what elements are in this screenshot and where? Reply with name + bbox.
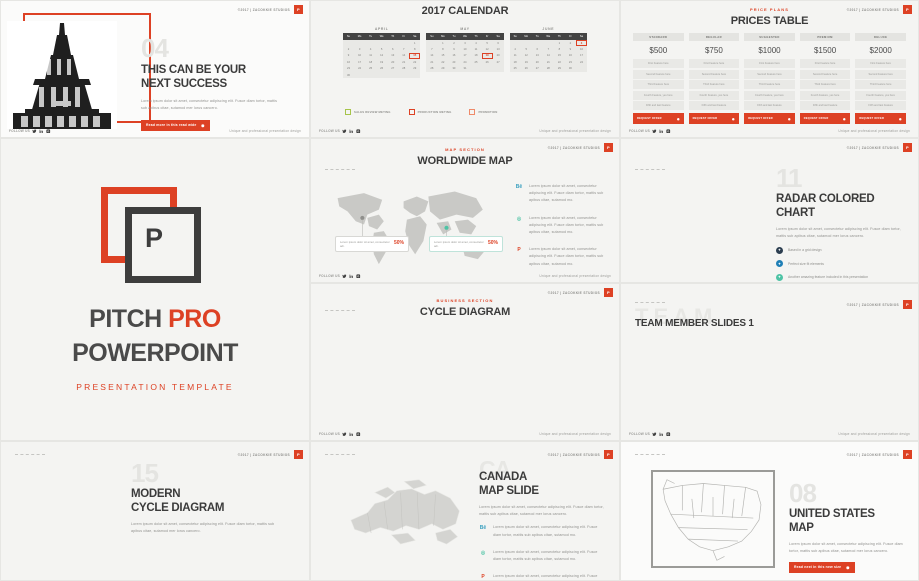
gear-icon <box>898 117 902 121</box>
day-cell[interactable]: 24 <box>576 59 587 65</box>
weekday-cell: Sa <box>493 33 504 40</box>
request-offer-label: REQUEST OFFER <box>693 117 718 120</box>
slide-footer: FOLLOW US Unique and professional presen… <box>9 129 301 134</box>
icon-bullet: ◎Lorem ipsum dolor sit amet, consectetur… <box>515 215 605 237</box>
day-cell[interactable]: 26 <box>482 59 493 65</box>
slide-credit: ©2017 | ZACOKKIE STUDIOS P <box>238 450 303 459</box>
usa-title-line1: UNITED STATES <box>789 507 911 521</box>
slide-credit: ©2017 | ZACOKKIE STUDIOS P <box>548 288 613 297</box>
canada-map-graphic <box>347 476 467 573</box>
plan-price: $1500 <box>800 41 851 59</box>
usa-description: Lorem ipsum dolor sit amet, consectetur … <box>789 541 911 555</box>
weekday-cell: Tu <box>448 33 459 40</box>
request-offer-label: REQUEST OFFER <box>637 117 662 120</box>
slide-number: 11 <box>776 169 906 189</box>
worldmap-bullet-list: BēLorem ipsum dolor sit amet, consectetu… <box>515 183 605 278</box>
decorative-rule <box>325 169 355 170</box>
legend-label: PROMOTION <box>478 110 497 114</box>
modern-title-line1: MODERN <box>131 487 281 501</box>
day-cell[interactable]: 28 <box>543 66 554 72</box>
brand-badge: P <box>903 450 912 459</box>
plan-feature: Third Feature here <box>800 80 851 89</box>
icon-bullet: BēLorem ipsum dolor sit amet, consectetu… <box>479 524 604 538</box>
slide-calendar[interactable]: 2017 CALENDAR APRILSuMoTuWeThFrSa1234567… <box>310 0 620 138</box>
weekday-cell: Th <box>554 33 565 40</box>
credit-text: ©2017 | ZACOKKIE STUDIOS <box>238 453 290 457</box>
logo-tagline: PRESENTATION TEMPLATE <box>76 382 234 392</box>
plan-name: STANDARD <box>633 33 684 41</box>
footer-tagline: Unique and professional presentation des… <box>229 129 301 133</box>
modern-cycle-graphic <box>15 468 121 579</box>
plan-feature: Fifth and last Feature <box>855 101 906 110</box>
weekday-cell: Th <box>387 33 398 40</box>
slide-modern-cycle[interactable]: ©2017 | ZACOKKIE STUDIOS P 15 MODERN CYC… <box>0 441 310 581</box>
usa-text-block: 08 UNITED STATES MAP Lorem ipsum dolor s… <box>789 484 911 573</box>
plan-feature: Fourth Feature, yes here <box>800 91 851 100</box>
plan-feature: Second Feature here <box>689 70 740 79</box>
slide-footer: FOLLOW US Unique and professional presen… <box>319 432 611 437</box>
linkedin-icon[interactable] <box>659 432 664 437</box>
success-text-block: 04 THIS CAN BE YOUR NEXT SUCCESS Lorem i… <box>141 39 281 131</box>
day-cell[interactable]: 29 <box>437 66 448 72</box>
feature-dot-icon: ✦ <box>776 247 783 254</box>
plan-name: PREMIUM <box>800 33 851 41</box>
weekday-cell: Su <box>343 33 354 40</box>
price-column[interactable]: PREMIUM$1500First Feature hereSecond Fea… <box>800 33 851 124</box>
legend-swatch <box>409 109 415 115</box>
bullet-text: Lorem ipsum dolor sit amet, consectetur … <box>529 183 605 205</box>
prices-title: PRICES TABLE <box>621 15 918 27</box>
template-showcase-grid: ©2017 | ZACOKKIE STUDIOS P <box>0 0 919 581</box>
gear-icon <box>200 123 205 128</box>
team-title: TEAM MEMBER SLIDES 1 <box>635 318 754 329</box>
slide-radar-chart[interactable]: ©2017 | ZACOKKIE STUDIOS P 11 RADAR COLO… <box>620 138 919 283</box>
follow-label: FOLLOW US <box>319 274 340 278</box>
day-cell[interactable]: 25 <box>365 66 376 72</box>
bullet-text: Lorem ipsum dolor sit amet, consectetur … <box>529 246 605 268</box>
plan-price: $750 <box>689 41 740 59</box>
feature-label: Another amazing feature included in this… <box>788 275 868 279</box>
weekday-cell: Sa <box>576 33 587 40</box>
calendar-legend-item: PROMOTION <box>469 109 497 115</box>
modern-title-line2: CYCLE DIAGRAM <box>131 501 281 515</box>
twitter-icon[interactable] <box>652 129 657 134</box>
logo-wordmark: PITCH PRO POWERPOINT <box>72 303 238 371</box>
request-offer-label: REQUEST OFFER <box>859 117 884 120</box>
callout-value: 50% <box>488 240 498 248</box>
plan-name: REGULAR <box>689 33 740 41</box>
plan-name: DELUXE <box>855 33 906 41</box>
wordmark-pitch: PITCH <box>89 305 162 333</box>
weekday-cell: Su <box>510 33 521 40</box>
canada-title-line2: MAP SLIDE <box>479 484 604 498</box>
map-callout-left[interactable]: Lorem ipsum dolor sit amet, consectetur … <box>335 236 409 252</box>
weekday-cell: Sa <box>409 33 420 40</box>
feature-label: Based in a grid design <box>788 248 822 252</box>
radar-title-line1: RADAR COLORED <box>776 192 906 206</box>
gear-icon <box>676 117 680 121</box>
modern-description: Lorem ipsum dolor sit amet, consectetur … <box>131 521 281 535</box>
linkedin-icon[interactable] <box>349 432 354 437</box>
calendar-month: JUNESuMoTuWeThFrSa1234567891011121314151… <box>510 27 587 78</box>
plan-feature: Fifth and last Feature <box>744 101 795 110</box>
weekday-cell: Tu <box>532 33 543 40</box>
bullet-text: Lorem ipsum dolor sit amet, consectetur … <box>493 549 604 563</box>
day-grid: 1234567891011121314151617181920212223242… <box>343 40 420 78</box>
usa-title-line2: MAP <box>789 521 911 535</box>
month-name: JUNE <box>510 27 587 31</box>
brand-badge: P <box>294 5 303 14</box>
twitter-icon[interactable] <box>342 274 347 279</box>
feature-dot-icon: ✦ <box>776 260 783 267</box>
footer-tagline: Unique and professional presentation des… <box>539 274 611 278</box>
day-grid: 1234567891011121314151617181920212223242… <box>510 40 587 72</box>
behance-icon: Bē <box>479 524 487 532</box>
plan-feature: Second Feature here <box>800 70 851 79</box>
month-name: APRIL <box>343 27 420 31</box>
read-more-label: Read more in this read wide <box>146 123 196 127</box>
twitter-icon[interactable] <box>32 129 37 134</box>
radar-description: Lorem ipsum dolor sit amet, consectetur … <box>776 226 906 240</box>
bullet-text: Lorem ipsum dolor sit amet, consectetur … <box>529 215 605 237</box>
day-cell[interactable]: 31 <box>459 66 470 72</box>
icon-bullet: PLorem ipsum dolor sit amet, consectetur… <box>515 246 605 268</box>
calendar-legend-item: PRODUCTION METING <box>409 109 452 115</box>
slide-credit: ©2017 | ZACOKKIE STUDIOS P <box>847 300 912 309</box>
plan-feature: Fifth and last Feature <box>689 101 740 110</box>
slide-footer: FOLLOW US Unique and professional presen… <box>319 129 611 134</box>
globe-icon: ◎ <box>479 549 487 557</box>
decorative-rule <box>325 454 355 455</box>
slide-number: 15 <box>131 464 281 484</box>
weekday-cell: Fr <box>398 33 409 40</box>
wordmark-powerpoint: POWERPOINT <box>72 337 238 371</box>
canada-map-svg <box>347 476 467 568</box>
canada-bullet-list: BēLorem ipsum dolor sit amet, consectetu… <box>479 524 604 581</box>
plan-feature: Fourth Feature, yes here <box>633 91 684 100</box>
map-callout-right[interactable]: Lorem ipsum dolor sit amet, consectetur … <box>429 236 503 252</box>
instagram-icon[interactable] <box>356 432 361 437</box>
linkedin-icon[interactable] <box>349 129 354 134</box>
day-cell[interactable]: 29 <box>554 66 565 72</box>
slide-credit: ©2017 | ZACOKKIE STUDIOS P <box>238 5 303 14</box>
slide-credit: ©2017 | ZACOKKIE STUDIOS P <box>847 143 912 152</box>
weekday-cell: Tu <box>365 33 376 40</box>
weekday-cell: We <box>543 33 554 40</box>
pitch-pro-logo-mark: P <box>101 187 209 287</box>
credit-text: ©2017 | ZACOKKIE STUDIOS <box>238 8 290 12</box>
request-offer-button[interactable]: REQUEST OFFER <box>633 113 684 124</box>
instagram-icon[interactable] <box>666 129 671 134</box>
weekday-header: SuMoTuWeThFrSa <box>343 33 420 40</box>
gear-icon <box>787 117 791 121</box>
day-cell[interactable]: 30 <box>448 66 459 72</box>
decorative-rule <box>635 454 665 455</box>
weekday-cell: We <box>459 33 470 40</box>
usa-map-svg <box>653 472 773 566</box>
plan-feature: Third Feature here <box>689 80 740 89</box>
plan-price: $500 <box>633 41 684 59</box>
slide-canada-map[interactable]: ©2017 | ZACOKKIE STUDIOS P CA <box>310 441 620 581</box>
price-column[interactable]: STANDARD$500First Feature hereSecond Fea… <box>633 33 684 124</box>
brand-badge: P <box>903 300 912 309</box>
instagram-icon[interactable] <box>46 129 51 134</box>
weekday-cell: Mo <box>437 33 448 40</box>
calendar-legend-item: SALES REVIEW METING <box>345 109 391 115</box>
usa-read-button[interactable]: Read next in this new size <box>789 562 855 573</box>
footer-tagline: Unique and professional presentation des… <box>539 432 611 436</box>
instagram-icon[interactable] <box>356 274 361 279</box>
request-offer-button[interactable]: REQUEST OFFER <box>855 113 906 124</box>
instagram-icon[interactable] <box>356 129 361 134</box>
day-cell[interactable]: 24 <box>354 66 365 72</box>
plan-name: SUGGESTED <box>744 33 795 41</box>
price-column[interactable]: DELUXE$2000First Feature hereSecond Feat… <box>855 33 906 124</box>
calendar-legend: SALES REVIEW METINGPRODUCTION METINGPROM… <box>345 109 498 115</box>
usa-map-frame <box>651 470 775 568</box>
day-cell[interactable]: 29 <box>409 66 420 72</box>
usa-read-label: Read next in this new size <box>794 565 841 569</box>
day-cell[interactable]: 25 <box>510 66 521 72</box>
radar-text-block: 11 RADAR COLORED CHART Lorem ipsum dolor… <box>776 169 906 283</box>
brand-badge: P <box>294 450 303 459</box>
plan-feature: Fourth Feature, yes here <box>855 91 906 100</box>
icon-bullet: ◎Lorem ipsum dolor sit amet, consectetur… <box>479 549 604 563</box>
plan-feature: First Feature here <box>855 59 906 68</box>
day-cell[interactable]: 30 <box>565 66 576 72</box>
bullet-text: Lorem ipsum dolor sit amet, consectetur … <box>493 524 604 538</box>
price-column[interactable]: SUGGESTED$1000First Feature hereSecond F… <box>744 33 795 124</box>
gear-icon <box>731 117 735 121</box>
world-map-graphic <box>331 181 496 278</box>
day-cell[interactable]: 25 <box>471 59 482 65</box>
plan-price: $2000 <box>855 41 906 59</box>
day-cell[interactable]: 28 <box>426 66 437 72</box>
weekday-header: SuMoTuWeThFrSa <box>426 33 503 40</box>
callout-value: 50% <box>394 240 404 248</box>
feature-item: ✦Based in a grid design <box>776 247 906 254</box>
wordmark-pro: PRO <box>168 305 221 333</box>
map-kicker: MAP SECTION <box>311 147 619 152</box>
calendar-title: 2017 CALENDAR <box>311 5 619 17</box>
slide-credit: ©2017 | ZACOKKIE STUDIOS P <box>847 450 912 459</box>
credit-text: ©2017 | ZACOKKIE STUDIOS <box>548 291 600 295</box>
prices-kicker: PRICE PLANS <box>621 7 918 12</box>
plan-feature: Second Feature here <box>855 70 906 79</box>
twitter-icon[interactable] <box>652 432 657 437</box>
follow-label: FOLLOW US <box>629 129 650 133</box>
radar-feature-list: ✦Based in a grid design✦Perfect size fit… <box>776 247 906 283</box>
request-offer-label: REQUEST OFFER <box>804 117 829 120</box>
canada-description: Lorem ipsum dolor sit amet, consectetur … <box>479 504 604 518</box>
gear-icon <box>842 117 846 121</box>
modern-text-block: 15 MODERN CYCLE DIAGRAM Lorem ipsum dolo… <box>131 464 281 542</box>
weekday-cell: Fr <box>482 33 493 40</box>
success-description: Lorem ipsum dolor sit amet, consectetur … <box>141 98 281 112</box>
plan-price: $1000 <box>744 41 795 59</box>
feature-item: ✦Perfect size fit elements <box>776 260 906 267</box>
linkedin-icon[interactable] <box>349 274 354 279</box>
linkedin-icon[interactable] <box>659 129 664 134</box>
request-offer-label: REQUEST OFFER <box>748 117 773 120</box>
cycle-title: CYCLE DIAGRAM <box>311 306 619 318</box>
plan-feature: First Feature here <box>744 59 795 68</box>
brand-badge: P <box>604 450 613 459</box>
calendar-month: APRILSuMoTuWeThFrSa123456789101112131415… <box>343 27 420 78</box>
footer-tagline: Unique and professional presentation des… <box>539 129 611 133</box>
day-cell[interactable]: 27 <box>532 66 543 72</box>
pinterest-icon: P <box>515 246 523 254</box>
callout-text: Lorem ipsum dolor sit amet, consectetur … <box>340 240 390 248</box>
eiffel-tower-illustration <box>7 21 117 129</box>
plan-feature: Third Feature here <box>855 80 906 89</box>
legend-label: PRODUCTION METING <box>418 110 452 114</box>
follow-label: FOLLOW US <box>9 129 30 133</box>
slide-number: 04 <box>141 39 281 59</box>
weekday-cell: Th <box>471 33 482 40</box>
plan-feature: First Feature here <box>633 59 684 68</box>
logo-letter-p: P <box>145 225 163 252</box>
plan-feature: First Feature here <box>689 59 740 68</box>
plan-feature: First Feature here <box>800 59 851 68</box>
brand-badge: P <box>604 288 613 297</box>
icon-bullet: BēLorem ipsum dolor sit amet, consectetu… <box>515 183 605 205</box>
radar-title-line2: CHART <box>776 206 906 220</box>
slide-next-success[interactable]: ©2017 | ZACOKKIE STUDIOS P <box>0 0 310 138</box>
globe-icon: ◎ <box>515 215 523 223</box>
weekday-cell: Mo <box>354 33 365 40</box>
day-cell[interactable]: 26 <box>521 66 532 72</box>
price-column[interactable]: REGULAR$750First Feature hereSecond Feat… <box>689 33 740 124</box>
slide-united-states-map[interactable]: ©2017 | ZACOKKIE STUDIOS P 08 UNITED STA… <box>620 441 919 581</box>
slide-logo[interactable]: P PITCH PRO POWERPOINT PRESENTATION TEMP… <box>0 138 310 441</box>
day-grid: 1234567891011121314151617181920212223242… <box>426 40 503 72</box>
weekday-cell: Fr <box>565 33 576 40</box>
linkedin-icon[interactable] <box>39 129 44 134</box>
feature-item: ✦Another amazing feature included in thi… <box>776 274 906 281</box>
footer-tagline: Unique and professional presentation des… <box>838 432 910 436</box>
world-map-svg <box>331 181 496 273</box>
calendar-month: MAYSuMoTuWeThFrSa12345678910111213141516… <box>426 27 503 78</box>
slide-prices-table[interactable]: ©2017 | ZACOKKIE STUDIOS P PRICE PLANS P… <box>620 0 919 138</box>
plan-feature: Fifth and last Feature <box>800 101 851 110</box>
month-name: MAY <box>426 27 503 31</box>
follow-label: FOLLOW US <box>629 432 650 436</box>
legend-swatch <box>345 109 351 115</box>
follow-label: FOLLOW US <box>319 432 340 436</box>
credit-text: ©2017 | ZACOKKIE STUDIOS <box>847 146 899 150</box>
weekday-cell: We <box>376 33 387 40</box>
footer-tagline: Unique and professional presentation des… <box>838 129 910 133</box>
success-title-line2: NEXT SUCCESS <box>141 77 281 91</box>
plan-feature: Second Feature here <box>744 70 795 79</box>
day-cell[interactable]: 27 <box>387 66 398 72</box>
gear-icon <box>845 565 850 570</box>
callout-text: Lorem ipsum dolor sit amet, consectetur … <box>434 240 484 248</box>
decorative-rule <box>635 302 665 303</box>
weekday-cell: Su <box>426 33 437 40</box>
slide-footer: FOLLOW US Unique and professional presen… <box>319 274 611 279</box>
instagram-icon[interactable] <box>666 432 671 437</box>
day-cell[interactable]: 30 <box>343 72 354 78</box>
cycle-kicker: BUSINESS SECTION <box>311 298 619 303</box>
follow-label: FOLLOW US <box>319 129 340 133</box>
bullet-text: Lorem ipsum dolor sit amet, consectetur … <box>493 573 604 581</box>
credit-text: ©2017 | ZACOKKIE STUDIOS <box>847 303 899 307</box>
modern-cycle-svg <box>15 468 121 574</box>
icon-bullet: PLorem ipsum dolor sit amet, consectetur… <box>479 573 604 581</box>
decorative-rule <box>15 454 45 455</box>
plan-feature: Fifth and last Feature <box>633 101 684 110</box>
request-offer-button[interactable]: REQUEST OFFER <box>744 113 795 124</box>
price-columns: STANDARD$500First Feature hereSecond Fea… <box>633 33 906 124</box>
feature-label: Perfect size fit elements <box>788 262 824 266</box>
request-offer-button[interactable]: REQUEST OFFER <box>800 113 851 124</box>
twitter-icon[interactable] <box>342 432 347 437</box>
slide-number: 08 <box>789 484 911 504</box>
weekday-header: SuMoTuWeThFrSa <box>510 33 587 40</box>
slide-footer: FOLLOW US Unique and professional presen… <box>629 129 910 134</box>
radar-chart-graphic <box>651 169 751 274</box>
plan-feature: Third Feature here <box>633 80 684 89</box>
day-cell[interactable]: 27 <box>493 59 504 65</box>
slide-credit: ©2017 | ZACOKKIE STUDIOS P <box>548 450 613 459</box>
eiffel-tower-photo <box>7 21 117 129</box>
credit-text: ©2017 | ZACOKKIE STUDIOS <box>548 453 600 457</box>
slide-footer: FOLLOW US Unique and professional presen… <box>629 432 910 437</box>
day-cell[interactable]: 26 <box>376 66 387 72</box>
plan-feature: Second Feature here <box>633 70 684 79</box>
twitter-icon[interactable] <box>342 129 347 134</box>
legend-label: SALES REVIEW METING <box>354 110 391 114</box>
brand-badge: P <box>903 143 912 152</box>
behance-icon: Bē <box>515 183 523 191</box>
legend-swatch <box>469 109 475 115</box>
canada-title-line1: CANADA <box>479 470 604 484</box>
success-title-line1: THIS CAN BE YOUR <box>141 63 281 77</box>
calendar-months: APRILSuMoTuWeThFrSa123456789101112131415… <box>343 27 587 78</box>
weekday-cell: Mo <box>521 33 532 40</box>
day-cell[interactable]: 28 <box>398 66 409 72</box>
map-title: WORLDWIDE MAP <box>311 155 619 167</box>
plan-feature: Fourth Feature, yes here <box>744 91 795 100</box>
radar-chart-svg <box>651 169 751 269</box>
slide-cycle-diagram[interactable]: ©2017 | ZACOKKIE STUDIOS P BUSINESS SECT… <box>310 283 620 441</box>
slide-team-members[interactable]: ©2017 | ZACOKKIE STUDIOS P TEAM TEAM MEM… <box>620 283 919 441</box>
slide-worldwide-map[interactable]: ©2017 | ZACOKKIE STUDIOS P MAP SECTION W… <box>310 138 620 283</box>
pinterest-icon: P <box>479 573 487 581</box>
request-offer-button[interactable]: REQUEST OFFER <box>689 113 740 124</box>
feature-dot-icon: ✦ <box>776 274 783 281</box>
plan-feature: Fourth Feature, yes here <box>689 91 740 100</box>
canada-text-block: CANADA MAP SLIDE Lorem ipsum dolor sit a… <box>479 470 604 581</box>
plan-feature: Third Feature here <box>744 80 795 89</box>
credit-text: ©2017 | ZACOKKIE STUDIOS <box>847 453 899 457</box>
